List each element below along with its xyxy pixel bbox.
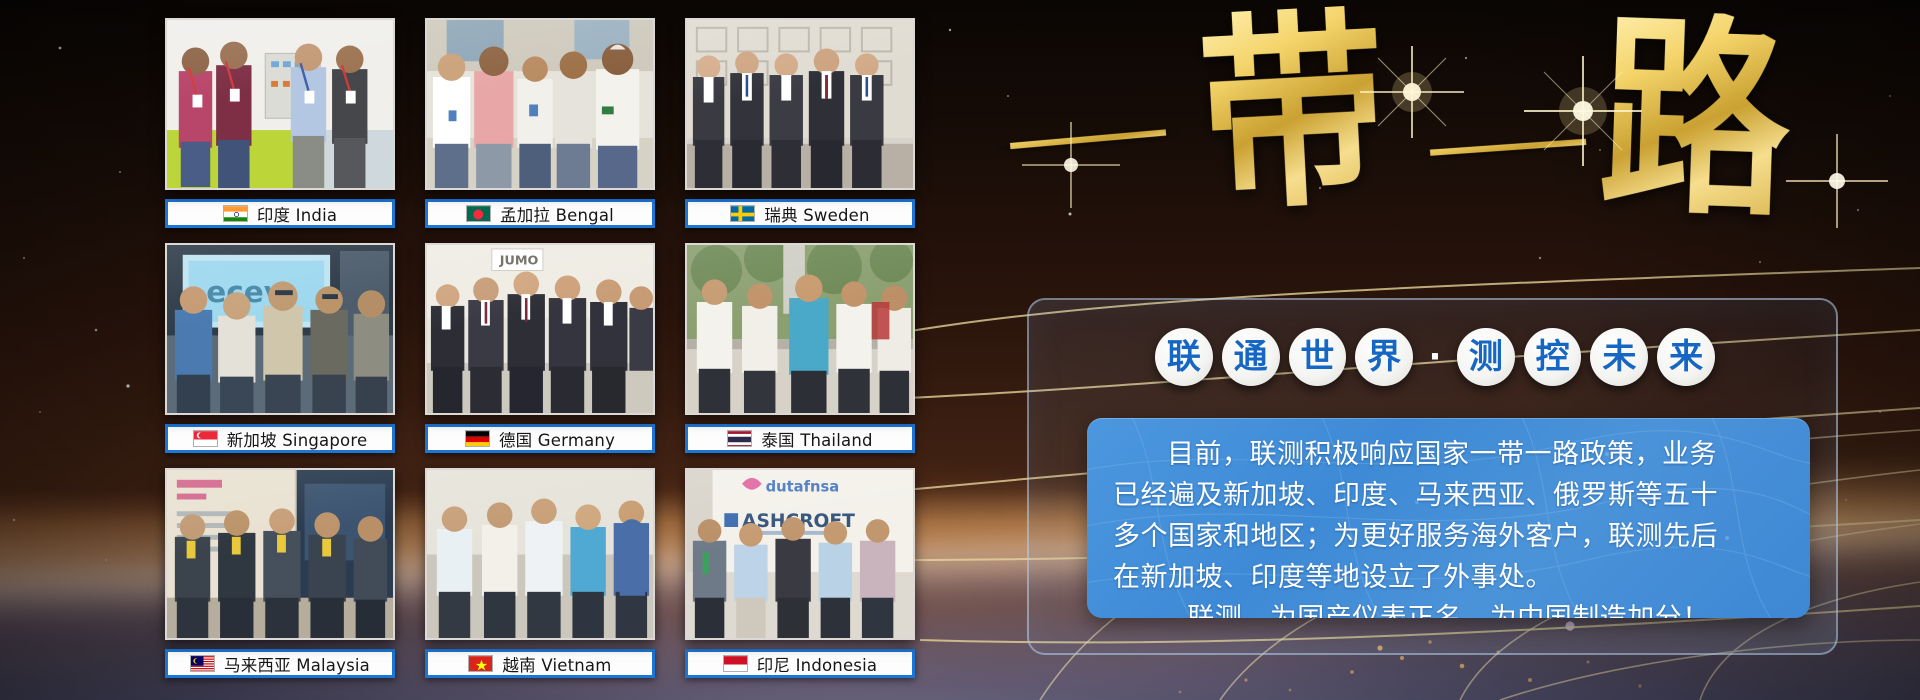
country-label: 印度 India xyxy=(257,202,337,226)
flag-india-icon xyxy=(223,205,248,222)
grid-cell-indonesia[interactable]: dutafnsa ASHCROFT xyxy=(685,468,915,678)
photo-vietnam xyxy=(425,468,655,640)
description-line-3: 多个国家和地区；为更好服务海外客户，联测先后 xyxy=(1113,516,1784,557)
flag-bangladesh-icon xyxy=(466,205,491,222)
photo-indonesia: dutafnsa ASHCROFT xyxy=(685,468,915,640)
photo-germany: JUMO xyxy=(425,243,655,415)
country-label: 新加坡 Singapore xyxy=(227,427,368,451)
country-tag-singapore[interactable]: 新加坡 Singapore xyxy=(165,424,395,453)
svg-text:JUMO: JUMO xyxy=(499,254,539,269)
flag-malaysia-icon xyxy=(190,655,215,672)
description-line-2: 已经遍及新加坡、印度、马来西亚、俄罗斯等五十 xyxy=(1113,475,1784,516)
description-text-1: 目前，联测积极响应国家一带一路政策，业务 xyxy=(1167,439,1717,470)
grid-cell-germany[interactable]: JUMO xyxy=(425,243,655,453)
slogan-badge-7: 未 xyxy=(1590,328,1648,386)
country-label: 印尼 Indonesia xyxy=(757,652,877,676)
country-tag-bangladesh[interactable]: 孟加拉 Bengal xyxy=(425,199,655,228)
grid-cell-india[interactable]: 印度 India xyxy=(165,18,395,228)
banner-stage: 一 带 一 路 xyxy=(0,0,1920,700)
flag-germany-icon xyxy=(465,430,490,447)
description-line-4: 在新加坡、印度等地设立了外事处。 xyxy=(1113,557,1784,598)
slogan-badge-6: 控 xyxy=(1524,328,1582,386)
country-label: 瑞典 Sweden xyxy=(764,202,869,226)
country-label: 越南 Vietnam xyxy=(502,652,611,676)
description-line-1: 目前，联测积极响应国家一带一路政策，业务 xyxy=(1113,434,1784,475)
photo-india xyxy=(165,18,395,190)
country-tag-india[interactable]: 印度 India xyxy=(165,199,395,228)
slogan-badge-5: 测 xyxy=(1457,328,1515,386)
country-tag-malaysia[interactable]: 马来西亚 Malaysia xyxy=(165,649,395,678)
gold-char-4: 路 xyxy=(1596,9,1793,228)
svg-text:dutafnsa: dutafnsa xyxy=(766,479,840,496)
grid-cell-vietnam[interactable]: 越南 Vietnam xyxy=(425,468,655,678)
country-label: 德国 Germany xyxy=(499,427,615,451)
slogan-badge-4: 界 xyxy=(1355,328,1413,386)
country-tag-thailand[interactable]: 泰国 Thailand xyxy=(685,424,915,453)
country-tag-sweden[interactable]: 瑞典 Sweden xyxy=(685,199,915,228)
country-label: 孟加拉 Bengal xyxy=(500,202,614,226)
flag-sweden-icon xyxy=(730,205,755,222)
slogan-badge-2: 通 xyxy=(1222,328,1280,386)
gold-calligraphy-title: 一 带 一 路 xyxy=(1000,14,1880,210)
photo-malaysia xyxy=(165,468,395,640)
flag-indonesia-icon xyxy=(723,655,748,672)
flag-singapore-icon xyxy=(193,430,218,447)
photo-sweden xyxy=(685,18,915,190)
gold-char-1: 一 xyxy=(1003,107,1172,177)
photo-singapore: ecev xyxy=(165,243,395,415)
slogan-badges: 联 通 世 界 · 测 控 未 来 xyxy=(1155,320,1715,394)
country-label: 泰国 Thailand xyxy=(761,427,872,451)
country-label: 马来西亚 Malaysia xyxy=(224,652,370,676)
gold-char-3: 一 xyxy=(1424,117,1592,184)
photo-thailand xyxy=(685,243,915,415)
country-photo-grid: 印度 India xyxy=(165,18,920,683)
slogan-separator-dot: · xyxy=(1422,328,1448,386)
slogan-badge-8: 来 xyxy=(1657,328,1715,386)
grid-cell-sweden[interactable]: 瑞典 Sweden xyxy=(685,18,915,228)
description-box: 目前，联测积极响应国家一带一路政策，业务 已经遍及新加坡、印度、马来西亚、俄罗斯… xyxy=(1087,418,1810,618)
flag-vietnam-icon xyxy=(468,655,493,672)
country-tag-germany[interactable]: 德国 Germany xyxy=(425,424,655,453)
grid-cell-singapore[interactable]: ecev 新加坡 Si xyxy=(165,243,395,453)
country-tag-indonesia[interactable]: 印尼 Indonesia xyxy=(685,649,915,678)
flag-thailand-icon xyxy=(727,430,752,447)
grid-cell-thailand[interactable]: 泰国 Thailand xyxy=(685,243,915,453)
grid-cell-malaysia[interactable]: 马来西亚 Malaysia xyxy=(165,468,395,678)
slogan-badge-3: 世 xyxy=(1289,328,1347,386)
photo-bangladesh xyxy=(425,18,655,190)
description-line-5: 联测，为国产仪表正名，为中国制造加分！ xyxy=(1113,598,1784,618)
gold-char-2: 带 xyxy=(1195,4,1392,222)
grid-cell-bangladesh[interactable]: 孟加拉 Bengal xyxy=(425,18,655,228)
slogan-badge-1: 联 xyxy=(1155,328,1213,386)
country-tag-vietnam[interactable]: 越南 Vietnam xyxy=(425,649,655,678)
